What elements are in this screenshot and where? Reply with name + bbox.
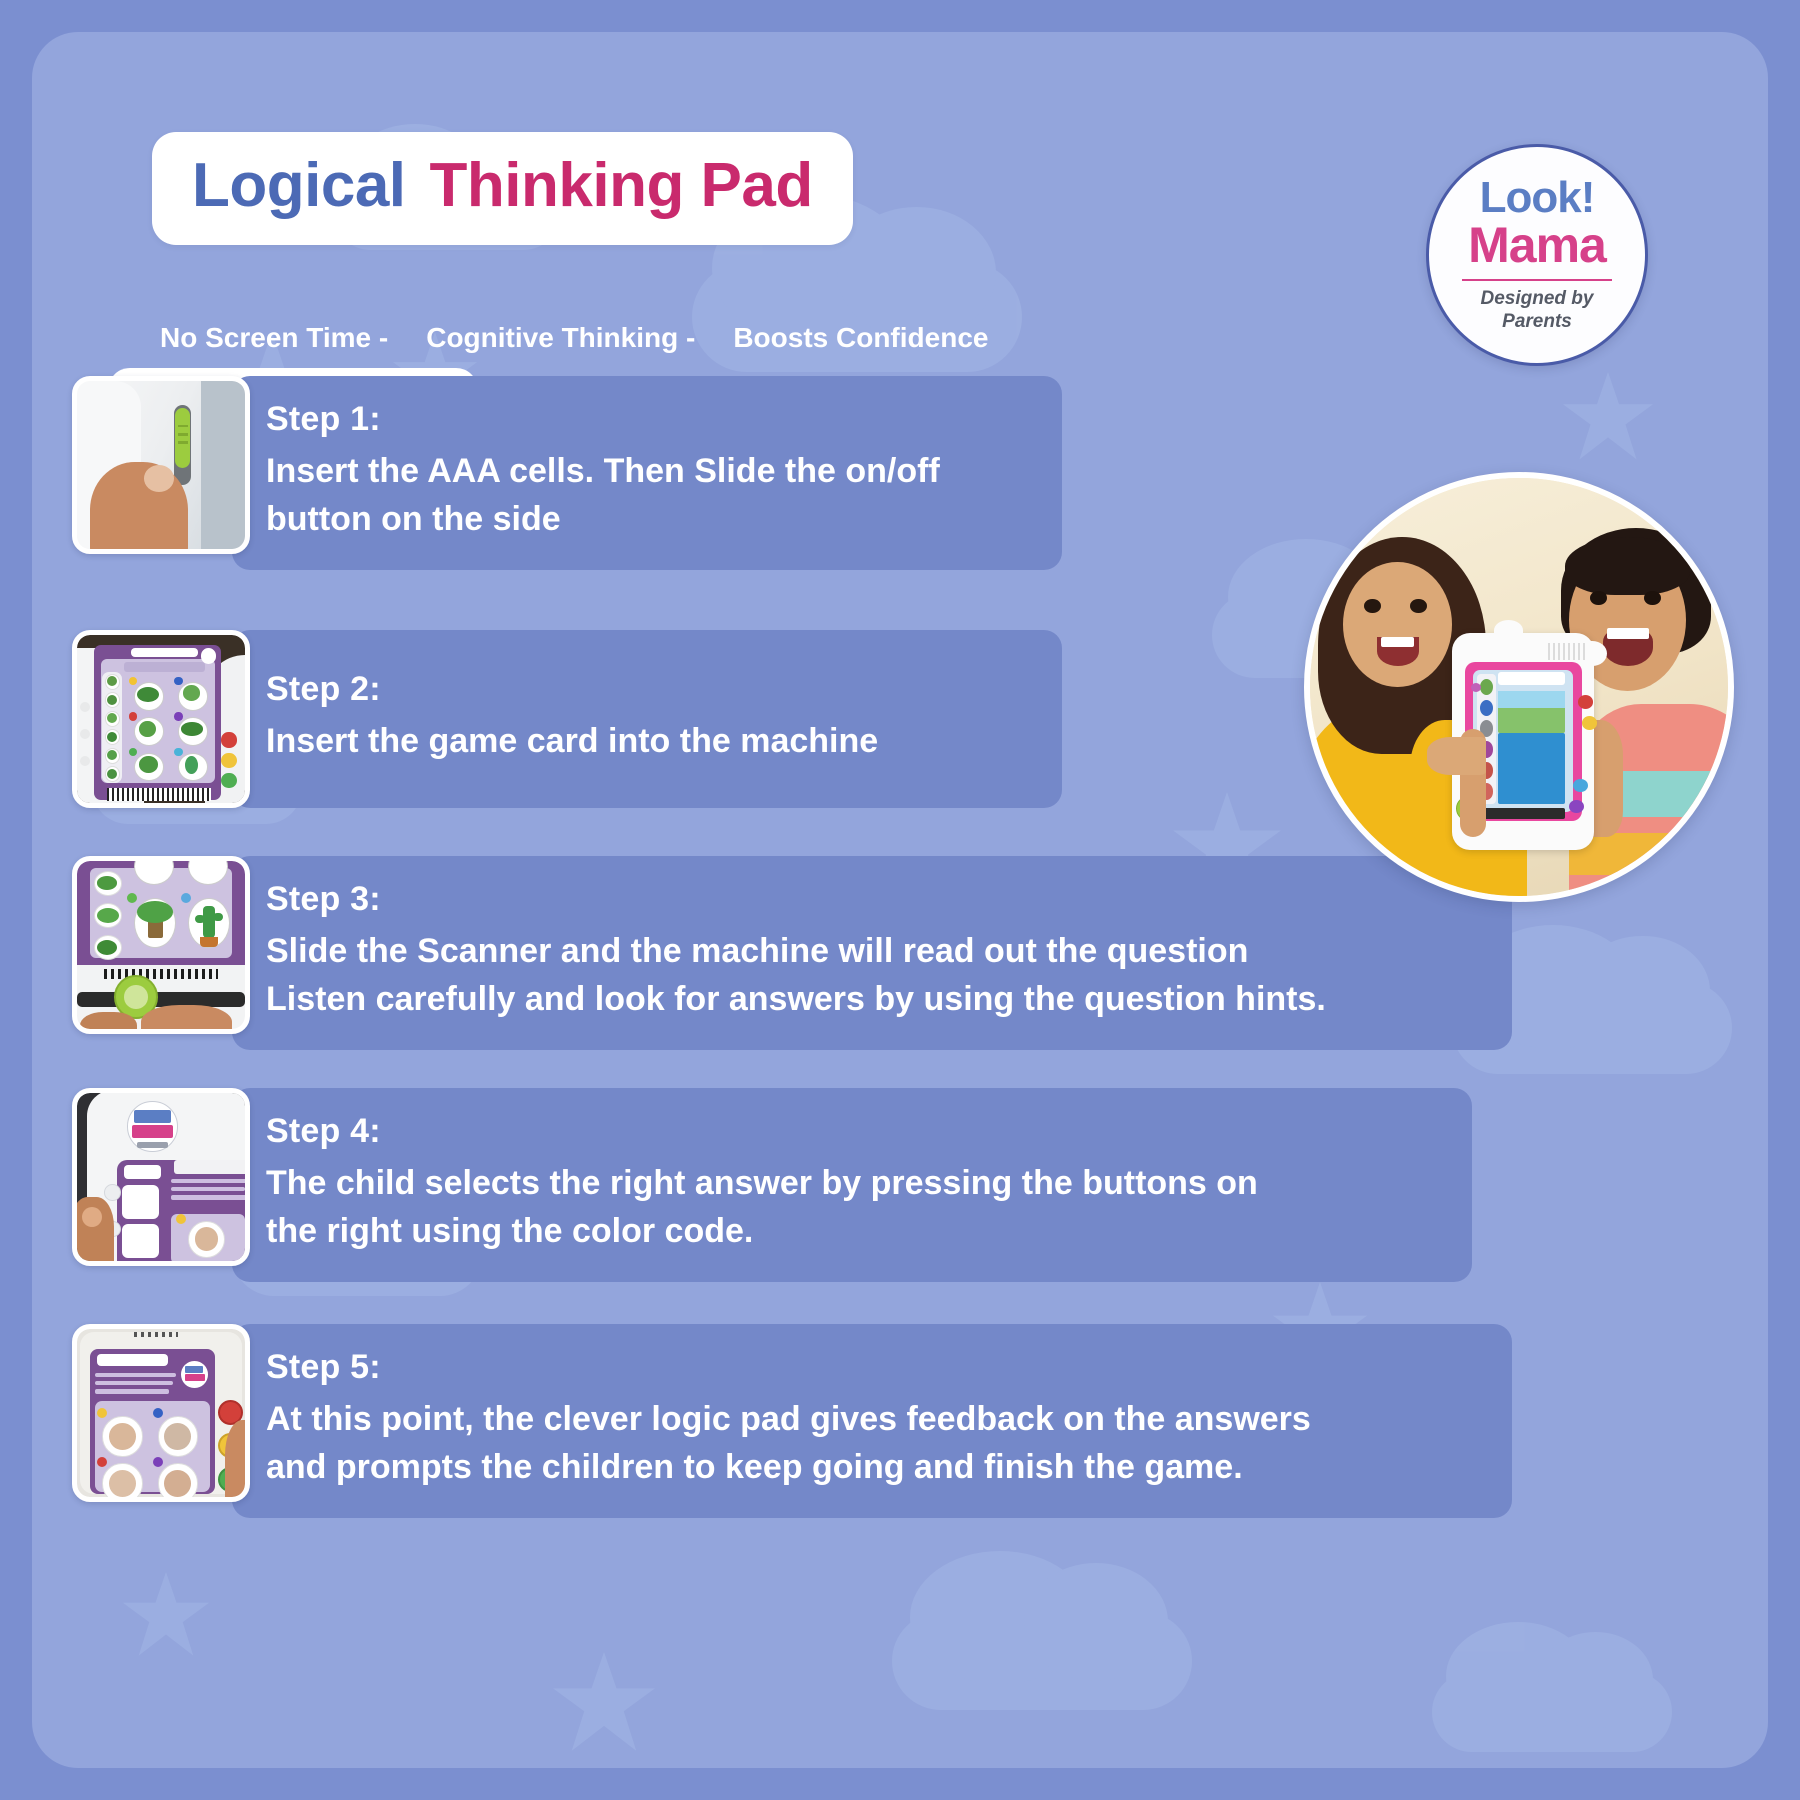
product-title-pill: Logical Thinking Pad [152, 132, 853, 245]
step-line: At this point, the clever logic pad give… [266, 1395, 1478, 1443]
step-line: Insert the AAA cells. Then Slide the on/… [266, 447, 1028, 495]
logo-divider [1462, 279, 1612, 281]
tagline-item-0: No Screen Time - [160, 322, 388, 354]
poster-root: Logical Thinking Pad No Screen Time - Co… [0, 0, 1800, 1800]
step-row: Step 4: The child selects the right answ… [72, 1088, 1472, 1282]
step-label: Step 5: [266, 1348, 1478, 1387]
step-row: Step 1: Insert the AAA cells. Then Slide… [72, 376, 1062, 570]
step-line: button on the side [266, 495, 1028, 543]
thumb-green-scanner-wheel-on-barcode-strip [77, 861, 245, 1029]
star-shape [1562, 372, 1654, 464]
step-label: Step 1: [266, 400, 1028, 439]
step-line: Slide the Scanner and the machine will r… [266, 927, 1478, 975]
step-label: Step 2: [266, 670, 1028, 709]
step-line: Listen carefully and look for answers by… [266, 975, 1478, 1023]
tagline-item-2: Boosts Confidence [733, 322, 988, 354]
cloud-shape [892, 1612, 1192, 1710]
step-text-bar-4: Step 4: The child selects the right answ… [232, 1088, 1472, 1282]
logo-tagline: Designed by Parents [1481, 288, 1594, 333]
step-line: the right using the color code. [266, 1207, 1438, 1255]
thumb-purple-plant-game-card-inserted [77, 635, 245, 803]
step-thumbnail-2 [72, 630, 250, 808]
tagline: No Screen Time - Cognitive Thinking - Bo… [160, 322, 988, 354]
step-line: The child selects the right answer by pr… [266, 1159, 1438, 1207]
star-shape [122, 1572, 210, 1660]
step-thumbnail-1 [72, 376, 250, 554]
step-text-bar-2: Step 2: Insert the game card into the ma… [232, 630, 1062, 808]
step-row: Step 5: At this point, the clever logic … [72, 1324, 1512, 1518]
logo-tagline-line1: Designed by [1481, 288, 1594, 310]
step-thumbnail-4 [72, 1088, 250, 1266]
star-shape [552, 1652, 656, 1756]
hero-photo-children-with-product [1304, 472, 1734, 902]
step-line: Insert the game card into the machine [266, 717, 1028, 765]
thumb-device-with-level2-general-knowledge-card [77, 1093, 245, 1261]
logo-text-look: Look! [1480, 177, 1595, 219]
thumb-thumb-pressing-green-power-switch [77, 381, 245, 549]
step-thumbnail-3 [72, 856, 250, 1034]
step-row: Step 2: Insert the game card into the ma… [72, 630, 1062, 808]
step-line: and prompts the children to keep going a… [266, 1443, 1478, 1491]
logo-text-mama: Mama [1468, 220, 1606, 270]
inner-panel: Logical Thinking Pad No Screen Time - Co… [32, 32, 1768, 1768]
title-word-thinking-pad: Thinking Pad [430, 150, 813, 221]
step-thumbnail-5 [72, 1324, 250, 1502]
cloud-shape [692, 262, 1022, 372]
step-label: Step 4: [266, 1112, 1438, 1151]
cloud-shape [1432, 1672, 1672, 1752]
step-text-bar-5: Step 5: At this point, the clever logic … [232, 1324, 1512, 1518]
logo-tagline-line2: Parents [1481, 311, 1594, 333]
tagline-item-1: Cognitive Thinking - [426, 322, 695, 354]
thumb-child-pressing-colored-answer-buttons [77, 1329, 245, 1497]
step-row: Step 3: Slide the Scanner and the machin… [72, 856, 1512, 1050]
brand-logo-badge: Look! Mama Designed by Parents [1426, 144, 1648, 366]
title-word-logical: Logical [192, 150, 406, 221]
step-label: Step 3: [266, 880, 1478, 919]
step-text-bar-1: Step 1: Insert the AAA cells. Then Slide… [232, 376, 1062, 570]
